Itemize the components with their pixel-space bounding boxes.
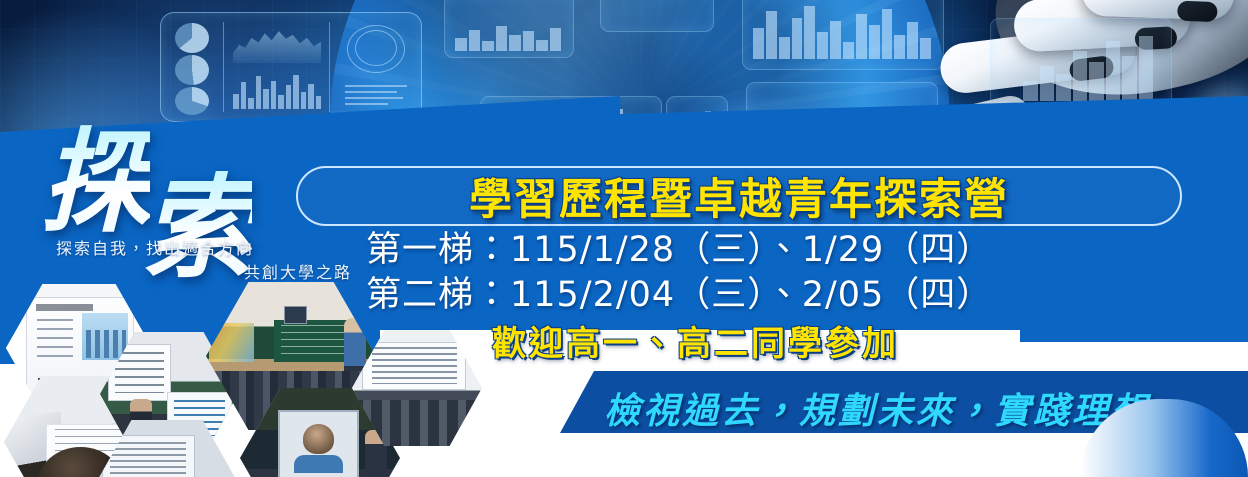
photo-collage <box>0 288 520 477</box>
pie-chart-icon <box>175 23 209 53</box>
logo-subtitle-line1: 探索自我，找出適合方向 <box>56 241 254 258</box>
hud-panel-small-left <box>444 0 574 58</box>
event-title: 學習歷程暨卓越青年探索營 <box>469 165 1009 227</box>
hud-panel-cloud <box>600 0 714 32</box>
welcome-message: 歡迎高一、高二同學參加 <box>492 316 899 365</box>
logo-subtitle: 探索自我，找出適合方向 共創大學之路 <box>56 238 356 286</box>
event-promo-banner: 探 索 探索自我，找出適合方向 共創大學之路 學習歷程暨卓越青年探索營 第一梯：… <box>0 0 1248 477</box>
logo-char-tan: 探 <box>40 92 150 254</box>
pie-chart-icon-2 <box>175 55 209 85</box>
area-chart-graphic <box>233 25 321 63</box>
text-lines-graphic <box>345 77 407 113</box>
event-title-pill: 學習歷程暨卓越青年探索營 <box>296 166 1182 226</box>
tagline-text: 檢視過去，規劃未來，實踐理想 <box>604 382 1150 434</box>
explore-logo: 探 索 <box>34 104 334 234</box>
session-date-1: 第一梯：115/1/28（三）、1/29（四） <box>366 228 1166 273</box>
